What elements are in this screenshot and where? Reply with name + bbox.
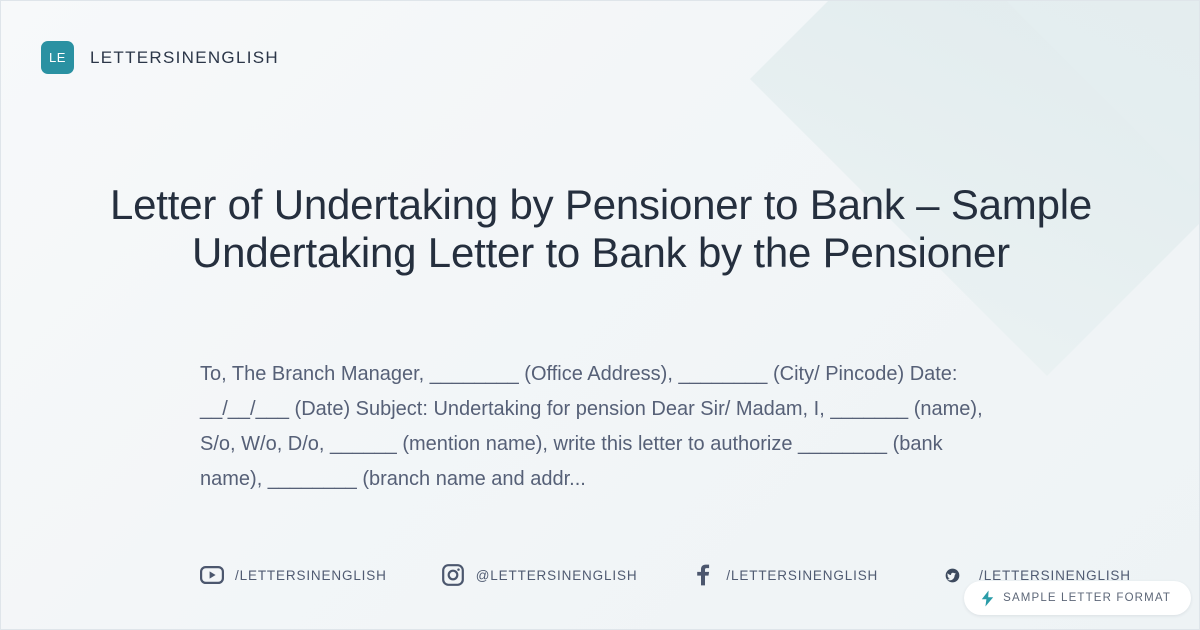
youtube-icon bbox=[200, 563, 224, 587]
twitter-icon bbox=[944, 567, 960, 583]
brand-logo[interactable]: LE LETTERSINENGLISH bbox=[41, 41, 279, 74]
brand-mark-icon: LE bbox=[41, 41, 74, 74]
status-badge-label: SAMPLE LETTER FORMAT bbox=[1003, 592, 1171, 604]
facebook-icon bbox=[691, 563, 715, 587]
social-label-instagram: @LETTERSINENGLISH bbox=[476, 568, 638, 583]
status-badge[interactable]: SAMPLE LETTER FORMAT bbox=[964, 581, 1191, 615]
lightning-bolt-icon bbox=[980, 590, 994, 606]
social-link-facebook[interactable]: /LETTERSINENGLISH bbox=[691, 563, 878, 587]
article-excerpt: To, The Branch Manager, ________ (Office… bbox=[200, 357, 1000, 497]
page-title: Letter of Undertaking by Pensioner to Ba… bbox=[101, 181, 1101, 277]
social-share-card: LE LETTERSINENGLISH Letter of Undertakin… bbox=[0, 0, 1200, 630]
instagram-icon bbox=[441, 563, 465, 587]
social-label-youtube: /LETTERSINENGLISH bbox=[235, 568, 387, 583]
social-link-youtube[interactable]: /LETTERSINENGLISH bbox=[200, 563, 387, 587]
card-content: LE LETTERSINENGLISH Letter of Undertakin… bbox=[1, 1, 1199, 629]
brand-name-label: LETTERSINENGLISH bbox=[90, 48, 279, 68]
social-label-facebook: /LETTERSINENGLISH bbox=[726, 568, 878, 583]
social-link-instagram[interactable]: @LETTERSINENGLISH bbox=[441, 563, 638, 587]
